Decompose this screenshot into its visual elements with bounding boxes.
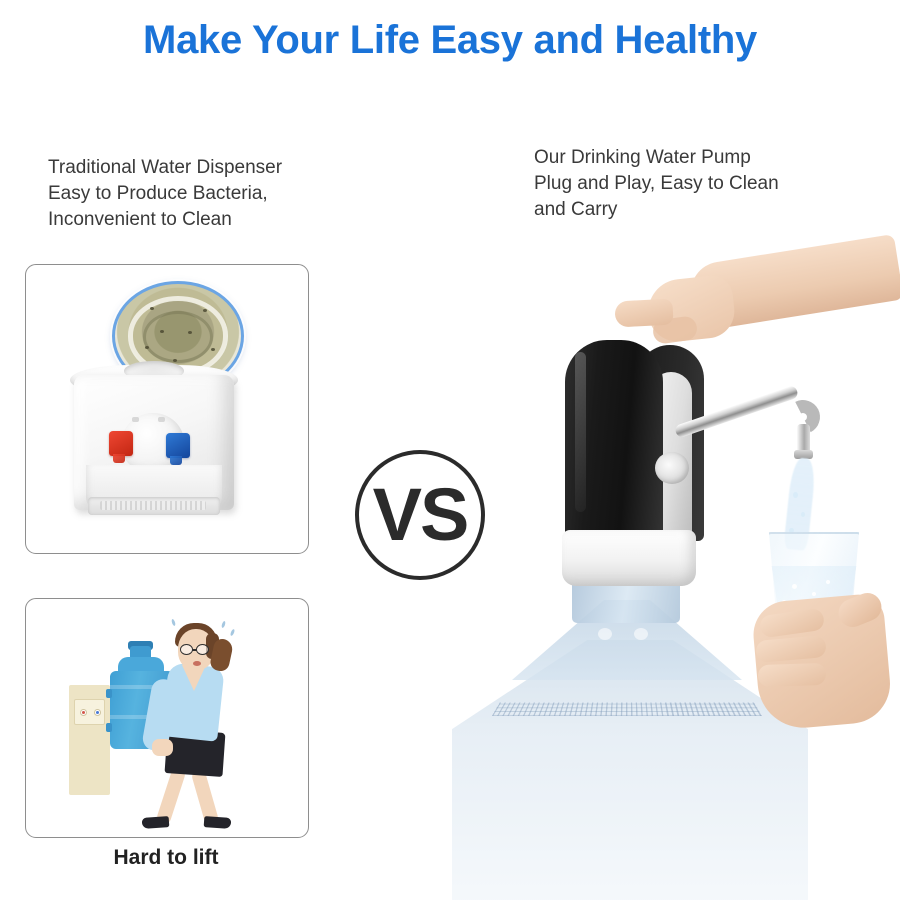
woman-glasses-bridge	[192, 649, 197, 651]
hard-to-lift-caption: Hard to lift	[25, 846, 307, 870]
pressing-index-finger	[614, 299, 673, 328]
pump-body-highlight	[575, 352, 586, 512]
water-bottle-texture-band	[492, 703, 762, 716]
traditional-dispenser-panel	[25, 264, 309, 554]
woman-hand	[152, 739, 173, 756]
page-title: Make Your Life Easy and Healthy	[0, 18, 900, 63]
woman-glasses-right-lens	[196, 644, 209, 655]
pump-outlet-port	[655, 452, 689, 484]
right-caption: Our Drinking Water Pump Plug and Play, E…	[534, 145, 864, 223]
callout-inner-ring	[143, 311, 214, 363]
pump-base-ring	[562, 530, 696, 586]
woman-back-shoe	[204, 816, 232, 829]
drip-tray-grill	[100, 501, 206, 510]
vs-badge: VS	[355, 450, 485, 580]
hard-to-lift-panel	[25, 598, 309, 838]
woman-front-shoe	[142, 816, 170, 829]
left-caption: Traditional Water Dispenser Easy to Prod…	[48, 155, 358, 233]
cold-water-tap	[166, 433, 190, 458]
hot-water-tap	[109, 431, 133, 456]
woman-mouth	[193, 661, 201, 666]
infographic-page: Make Your Life Easy and Healthy Traditio…	[0, 0, 900, 900]
vs-label: VS	[373, 478, 468, 552]
